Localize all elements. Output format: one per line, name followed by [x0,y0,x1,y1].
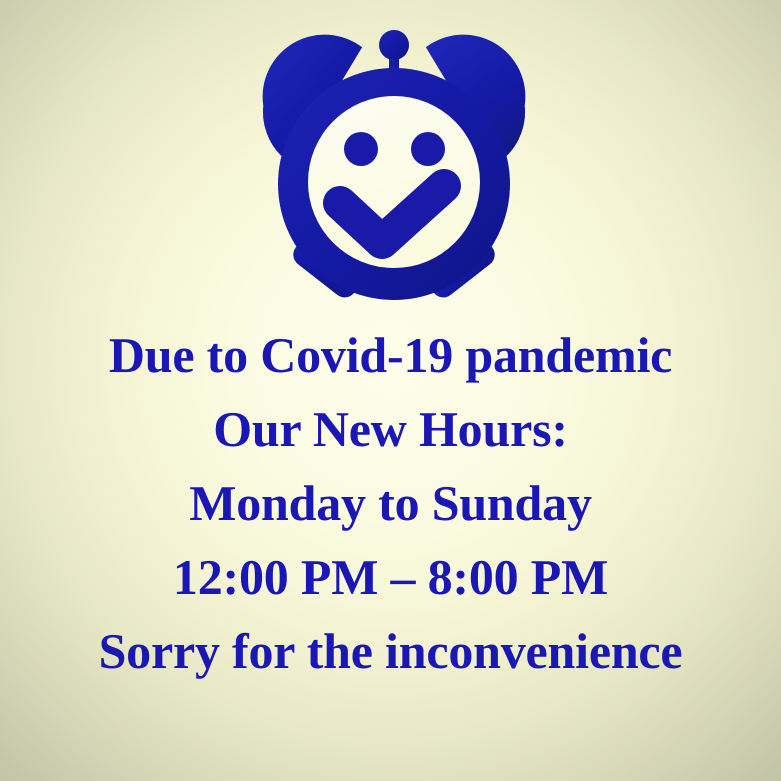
store-hours-poster: Due to Covid-19 pandemic Our New Hours: … [0,0,781,781]
alarm-clock-icon [248,20,540,320]
message-line-3: Monday to Sunday [0,466,781,540]
antenna-knob [379,30,409,60]
message-line-4: 12:00 PM – 8:00 PM [0,540,781,614]
eye-right [411,132,445,166]
eye-left [344,132,378,166]
logo-area [0,0,781,320]
message-line-2: Our New Hours: [0,392,781,466]
message-line-1: Due to Covid-19 pandemic [0,318,781,392]
message-block: Due to Covid-19 pandemic Our New Hours: … [0,318,781,688]
message-line-5: Sorry for the inconvenience [0,614,781,688]
